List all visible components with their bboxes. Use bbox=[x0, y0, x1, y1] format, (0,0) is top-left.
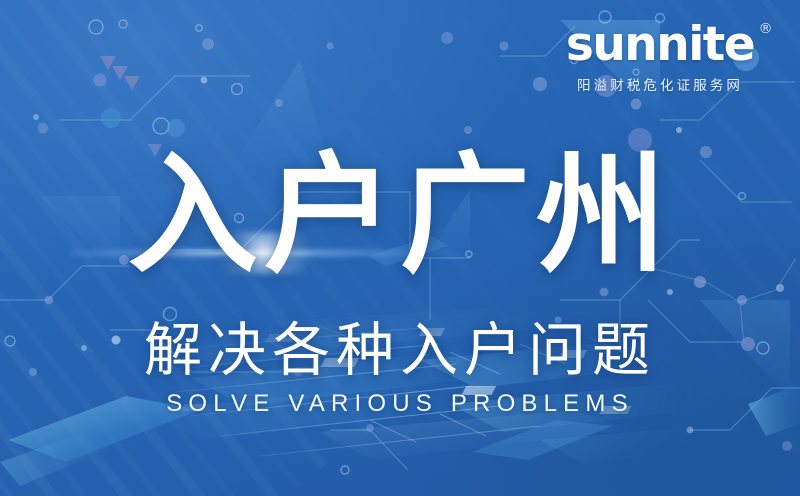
subtitle-english: SOLVE VARIOUS PROBLEMS bbox=[0, 390, 800, 418]
registered-trademark-icon: ® bbox=[759, 22, 772, 36]
logo-wordmark-text: sunnite bbox=[566, 17, 754, 72]
page-title: 入户广州 bbox=[0, 140, 800, 290]
triangle-arrow-cluster-icon bbox=[100, 56, 140, 90]
logo-wordmark: sunnite ® bbox=[566, 20, 754, 70]
logo-subtitle: 阳溢财税危化证服务网 bbox=[542, 74, 778, 94]
subtitle-chinese: 解决各种入户问题 bbox=[0, 316, 800, 384]
brand-logo[interactable]: sunnite ® 阳溢财税危化证服务网 bbox=[542, 20, 778, 94]
promo-banner: sunnite ® 阳溢财税危化证服务网 入户广州 解决各种入户问题 SOLVE… bbox=[0, 0, 800, 496]
